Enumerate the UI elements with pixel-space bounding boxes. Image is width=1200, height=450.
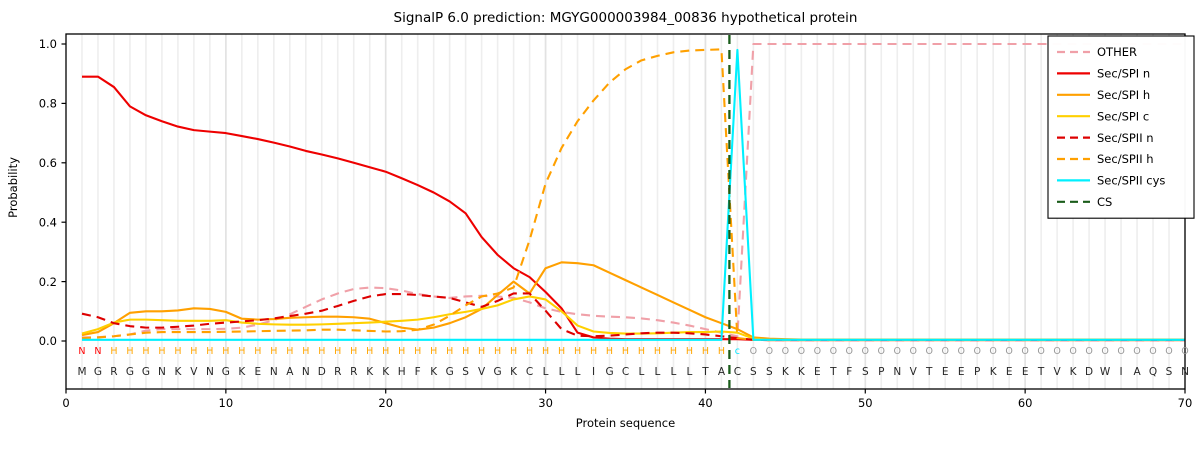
sequence-residue-5: G [142,366,150,378]
sequence-residue-34: G [605,366,613,378]
region-marker-20: H [382,346,389,357]
sequence-residue-29: C [526,366,533,378]
sequence-residue-59: E [1006,366,1013,378]
region-marker-32: H [574,346,581,357]
region-marker-68: O [1149,346,1156,357]
legend-label-other: OTHER [1097,45,1137,59]
region-marker-49: O [846,346,853,357]
legend-label-sec-spi-c: Sec/SPI c [1097,109,1149,123]
sequence-residue-1: M [77,366,86,378]
region-marker-21: H [398,346,405,357]
region-marker-1: N [78,346,85,357]
region-marker-55: O [941,346,948,357]
signalp-prediction-figure: SignalP 6.0 prediction: MGYG000003984_00… [0,0,1200,450]
sequence-residue-2: G [94,366,102,378]
region-marker-44: O [766,346,773,357]
sequence-residue-3: R [110,366,117,378]
region-marker-46: O [798,346,805,357]
sequence-residue-58: K [990,366,998,378]
region-marker-25: H [462,346,469,357]
sequence-residue-7: K [174,366,182,378]
xtick-label: 70 [1178,396,1193,410]
sequence-residue-42: C [734,366,741,378]
region-marker-39: H [686,346,693,357]
region-marker-5: H [142,346,149,357]
region-marker-30: H [542,346,549,357]
sequence-residue-26: V [478,366,486,378]
sequence-residue-15: N [302,366,310,378]
xtick-label: 40 [698,396,713,410]
sequence-residue-32: L [575,366,581,378]
sequence-residue-33: I [592,366,595,378]
sequence-residue-50: S [862,366,869,378]
xtick-label: 0 [62,396,69,410]
series-group [82,35,1185,388]
region-marker-57: O [973,346,980,357]
region-marker-60: O [1021,346,1028,357]
region-marker-52: O [894,346,901,357]
sequence-residue-66: I [1120,366,1123,378]
region-marker-48: O [830,346,837,357]
sequence-residue-43: S [750,366,757,378]
sequence-residue-35: C [622,366,629,378]
sequence-residue-16: D [318,366,326,378]
region-marker-56: O [957,346,964,357]
legend-box [1048,36,1194,218]
region-marker-36: H [638,346,645,357]
sequence-residue-52: N [893,366,901,378]
region-marker-65: O [1101,346,1108,357]
ytick-label: 0.6 [39,156,57,170]
sequence-residue-9: N [206,366,214,378]
region-marker-66: O [1117,346,1124,357]
region-marker-69: O [1165,346,1172,357]
sequence-residue-38: L [671,366,677,378]
sequence-residue-13: N [270,366,278,378]
gridlines [82,34,1185,389]
sequence-residue-61: T [1037,366,1045,378]
sequence-residue-8: V [190,366,198,378]
region-marker-62: O [1053,346,1060,357]
region-marker-42: c [735,346,740,357]
sequence-residue-10: G [222,366,230,378]
region-marker-67: O [1133,346,1140,357]
signalp-chart-svg: SignalP 6.0 prediction: MGYG000003984_00… [0,0,1200,450]
region-marker-27: H [494,346,501,357]
region-marker-47: O [814,346,821,357]
sequence-residue-36: L [639,366,645,378]
region-marker-43: O [750,346,757,357]
region-marker-26: H [478,346,485,357]
sequence-residue-60: E [1022,366,1029,378]
region-marker-18: H [350,346,357,357]
sequence-residue-27: G [494,366,502,378]
sequence-residue-18: R [350,366,357,378]
region-marker-12: H [254,346,261,357]
sequence-residue-14: A [286,366,294,378]
region-marker-31: H [558,346,565,357]
sequence-row: MGRGGNKVNGKENANDRRKKHFKGSVGKCLLLIGCLLLLT… [77,366,1188,378]
region-marker-3: H [110,346,117,357]
region-marker-33: H [590,346,597,357]
region-marker-9: H [206,346,213,357]
sequence-residue-21: H [398,366,406,378]
sequence-residue-56: E [958,366,965,378]
region-marker-15: H [302,346,309,357]
region-marker-59: O [1005,346,1012,357]
xtick-label: 60 [1018,396,1033,410]
sequence-residue-51: P [878,366,884,378]
sequence-residue-53: V [910,366,918,378]
sequence-residue-4: G [126,366,134,378]
series-line-sec-spii-h [82,49,1185,340]
region-marker-2: N [94,346,101,357]
sequence-residue-70: N [1181,366,1189,378]
sequence-residue-17: R [334,366,341,378]
region-marker-19: H [366,346,373,357]
sequence-residue-55: E [942,366,949,378]
region-marker-70: O [1181,346,1188,357]
series-line-sec-spii-cys [82,50,1185,340]
region-marker-6: H [158,346,165,357]
sequence-residue-6: N [158,366,166,378]
sequence-residue-40: T [701,366,709,378]
series-line-sec-spi-h [82,262,1185,339]
xtick-label: 20 [378,396,393,410]
series-line-sec-spi-n [82,77,1185,340]
sequence-residue-12: E [255,366,262,378]
sequence-residue-28: K [510,366,518,378]
legend-label-sec-spii-n: Sec/SPII n [1097,131,1154,145]
region-marker-45: O [782,346,789,357]
region-marker-22: H [414,346,421,357]
region-marker-41: H [718,346,725,357]
sequence-residue-65: W [1100,366,1111,378]
region-marker-50: O [862,346,869,357]
sequence-residue-54: T [925,366,933,378]
sequence-residue-19: K [366,366,374,378]
xtick-label: 50 [858,396,873,410]
legend-label-sec-spii-cys: Sec/SPII cys [1097,174,1165,188]
region-marker-34: H [606,346,613,357]
region-marker-4: H [126,346,133,357]
sequence-residue-64: D [1085,366,1093,378]
legend-label-sec-spii-h: Sec/SPII h [1097,152,1154,166]
region-marker-37: H [654,346,661,357]
region-marker-13: H [270,346,277,357]
legend-label-sec-spi-n: Sec/SPI n [1097,67,1150,81]
x-axis-label: Protein sequence [576,416,675,430]
legend-label-cs: CS [1097,195,1112,209]
sequence-residue-39: L [687,366,693,378]
region-marker-54: O [925,346,932,357]
sequence-residue-24: G [446,366,454,378]
sequence-residue-37: L [655,366,661,378]
sequence-residue-45: K [782,366,790,378]
region-marker-28: H [510,346,517,357]
sequence-residue-48: T [829,366,837,378]
region-marker-7: H [174,346,181,357]
region-marker-58: O [989,346,996,357]
series-line-other [82,44,1185,337]
region-marker-38: H [670,346,677,357]
sequence-residue-63: K [1070,366,1078,378]
region-marker-61: O [1037,346,1044,357]
sequence-residue-25: S [462,366,469,378]
region-marker-16: H [318,346,325,357]
region-marker-row: NNHHHHHHHHHHHHHHHHHHHHHHHHHHHHHHHHHHHHHH… [78,346,1188,357]
y-axis-label: Probability [6,157,20,218]
sequence-residue-20: K [382,366,390,378]
sequence-residue-62: V [1054,366,1062,378]
sequence-residue-44: S [766,366,773,378]
region-marker-11: H [238,346,245,357]
sequence-residue-49: F [846,366,852,378]
region-marker-64: O [1085,346,1092,357]
sequence-residue-23: K [430,366,438,378]
region-marker-53: O [910,346,917,357]
sequence-residue-11: K [238,366,246,378]
sequence-residue-22: F [415,366,421,378]
sequence-residue-46: K [798,366,806,378]
region-marker-23: H [430,346,437,357]
region-marker-8: H [190,346,197,357]
region-marker-10: H [222,346,229,357]
ytick-label: 0.2 [39,275,57,289]
sequence-residue-30: L [543,366,549,378]
region-marker-29: H [526,346,533,357]
region-marker-24: H [446,346,453,357]
sequence-residue-41: A [718,366,726,378]
region-marker-51: O [878,346,885,357]
legend: OTHERSec/SPI nSec/SPI hSec/SPI cSec/SPII… [1048,36,1194,218]
xtick-label: 30 [538,396,553,410]
sequence-residue-68: Q [1149,366,1157,378]
sequence-residue-69: S [1166,366,1173,378]
ytick-label: 0.8 [39,97,57,111]
region-marker-40: H [702,346,709,357]
chart-title: SignalP 6.0 prediction: MGYG000003984_00… [394,10,858,26]
region-marker-17: H [334,346,341,357]
sequence-residue-57: P [974,366,980,378]
ytick-label: 1.0 [39,37,57,51]
xtick-label: 10 [219,396,234,410]
sequence-residue-31: L [559,366,565,378]
region-marker-63: O [1069,346,1076,357]
sequence-residue-47: E [814,366,821,378]
region-marker-35: H [622,346,629,357]
ytick-label: 0.0 [39,334,57,348]
legend-label-sec-spi-h: Sec/SPI h [1097,88,1150,102]
sequence-residue-67: A [1133,366,1141,378]
region-marker-14: H [286,346,293,357]
ytick-label: 0.4 [39,215,57,229]
